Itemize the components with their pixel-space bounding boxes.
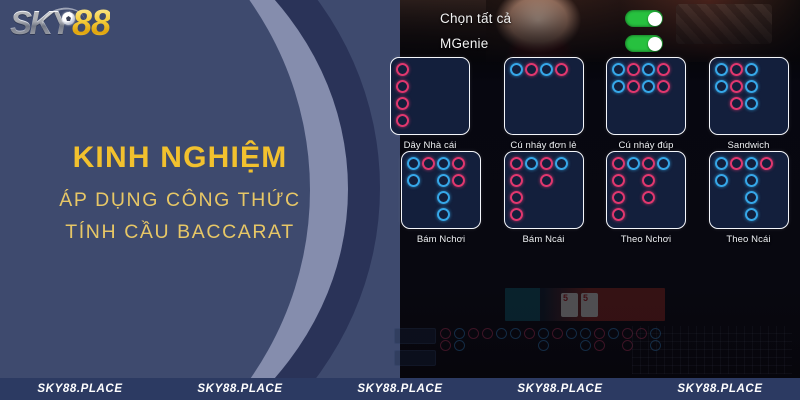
pattern-dot-row: [612, 157, 670, 172]
pattern-cell: Bám Nchơi: [390, 151, 492, 245]
player-dot-icon: [745, 191, 758, 204]
side-panel-box-1: [394, 328, 436, 344]
banker-dot-icon: [642, 157, 655, 170]
banker-dot-icon: [510, 174, 523, 187]
pattern-cell: Cú nháy đơn lẻ: [493, 57, 595, 151]
footer-watermark-bar: SKY88.PLACESKY88.PLACESKY88.PLACESKY88.P…: [0, 378, 800, 400]
banker-dot-icon: [422, 157, 435, 170]
sky88-logo[interactable]: SKY 88: [10, 6, 140, 46]
banner-headline: KINH NGHIỆM: [0, 140, 360, 176]
pattern-dot-row: [407, 208, 465, 223]
player-dot-icon: [555, 157, 568, 170]
pattern-card[interactable]: [504, 57, 584, 135]
pattern-dot-row: [396, 97, 409, 112]
banker-dot-icon: [525, 63, 538, 76]
banner-subline-1: ÁP DỤNG CÔNG THỨC: [0, 185, 360, 215]
pattern-dot-row: [510, 208, 568, 223]
banker-dot-icon: [540, 157, 553, 170]
empty-dot-slot: [407, 208, 420, 221]
player-dot-icon: [437, 174, 450, 187]
banker-dot-icon: [730, 80, 743, 93]
pattern-cell: Sandwich: [698, 57, 800, 151]
pattern-dot-row: [612, 63, 670, 78]
empty-dot-slot: [730, 208, 743, 221]
toggle-row-mgenie[interactable]: MGenie: [440, 31, 690, 56]
pattern-card[interactable]: [390, 57, 470, 135]
pattern-dot-row: [510, 63, 568, 78]
logo-text-88: 88: [72, 2, 110, 44]
player-dot-icon: [612, 63, 625, 76]
banner-subline-2: TÍNH CẦU BACCARAT: [0, 217, 360, 247]
pattern-card-label: Sandwich: [728, 140, 770, 151]
toggle-switch-select-all[interactable]: [625, 10, 663, 27]
banker-dot-icon: [396, 114, 409, 127]
player-dot-icon: [715, 157, 728, 170]
pattern-card[interactable]: [709, 57, 789, 135]
pattern-dot-row: [510, 174, 568, 189]
player-dot-icon: [437, 191, 450, 204]
toggle-knob: [648, 37, 662, 51]
table-card-1: 5: [561, 293, 578, 317]
pattern-cell: Theo Nchơi: [595, 151, 697, 245]
empty-dot-slot: [715, 191, 728, 204]
player-dot-icon: [745, 80, 758, 93]
big-road-grid: [632, 326, 792, 374]
pattern-cell: Cú nháy đúp: [595, 57, 697, 151]
pattern-dot-row: [396, 80, 409, 95]
empty-dot-slot: [715, 208, 728, 221]
banker-dot-icon: [396, 97, 409, 110]
screenshot-stage: 5 5 Chọn tất cả: [0, 0, 800, 400]
player-dot-icon: [657, 157, 670, 170]
empty-dot-slot: [627, 174, 640, 187]
banker-dot-icon: [642, 174, 655, 187]
player-dot-icon: [715, 80, 728, 93]
banker-dot-icon: [510, 157, 523, 170]
pattern-dot-row: [612, 208, 670, 223]
banker-dot-icon: [555, 63, 568, 76]
pattern-card-label: Cú nháy đơn lẻ: [510, 140, 576, 151]
pattern-dot-row: [715, 157, 773, 172]
pattern-dot-row: [715, 97, 758, 112]
banker-dot-icon: [612, 174, 625, 187]
banker-dot-icon: [657, 80, 670, 93]
banker-dot-icon: [730, 63, 743, 76]
player-dot-icon: [745, 157, 758, 170]
pattern-dot-matrix: [612, 157, 670, 223]
toggle-row-select-all[interactable]: Chọn tất cả: [440, 6, 690, 31]
banker-dot-icon: [612, 191, 625, 204]
banker-dot-icon: [612, 208, 625, 221]
banker-dot-icon: [510, 208, 523, 221]
player-dot-icon: [612, 80, 625, 93]
pattern-dot-matrix: [510, 157, 568, 223]
banker-dot-icon: [452, 157, 465, 170]
pattern-card[interactable]: [401, 151, 481, 229]
bead-plate-grid: [440, 328, 663, 351]
footer-watermark: SKY88.PLACE: [677, 383, 762, 395]
game-screenshot-panel: 5 5 Chọn tất cả: [390, 0, 800, 378]
banner-headline-block: KINH NGHIỆM ÁP DỤNG CÔNG THỨC TÍNH CẦU B…: [0, 140, 360, 247]
promo-banner: SKY 88 KINH NGHIỆM ÁP DỤNG CÔNG THỨC TÍN…: [0, 0, 400, 378]
player-dot-icon: [437, 157, 450, 170]
empty-dot-slot: [525, 174, 538, 187]
banker-dot-icon: [730, 97, 743, 110]
player-dot-icon: [642, 80, 655, 93]
player-dot-icon: [745, 63, 758, 76]
pattern-dot-row: [396, 63, 409, 78]
player-dot-icon: [627, 157, 640, 170]
pattern-dot-row: [407, 157, 465, 172]
pattern-dot-row: [510, 157, 568, 172]
pattern-cell: Theo Ncái: [698, 151, 800, 245]
banker-dot-icon: [612, 157, 625, 170]
empty-dot-slot: [407, 191, 420, 204]
footer-watermark: SKY88.PLACE: [197, 383, 282, 395]
pattern-card[interactable]: [606, 57, 686, 135]
toggle-label-select-all: Chọn tất cả: [440, 11, 625, 26]
pattern-dot-row: [715, 63, 758, 78]
pattern-dot-row: [396, 114, 409, 129]
player-dot-icon: [745, 208, 758, 221]
empty-dot-slot: [627, 191, 640, 204]
banker-dot-icon: [510, 191, 523, 204]
footer-watermark: SKY88.PLACE: [357, 383, 442, 395]
pattern-dot-matrix: [407, 157, 465, 223]
pattern-cell: Bám Ncái: [493, 151, 595, 245]
player-dot-icon: [642, 63, 655, 76]
pattern-card-label: Cú nháy đúp: [619, 140, 674, 151]
player-dot-icon: [540, 63, 553, 76]
banker-dot-icon: [627, 63, 640, 76]
toggle-switch-mgenie[interactable]: [625, 35, 663, 52]
pattern-card[interactable]: [504, 151, 584, 229]
player-dot-icon: [525, 157, 538, 170]
empty-dot-slot: [422, 174, 435, 187]
toggle-label-mgenie: MGenie: [440, 36, 625, 51]
side-panel-box-2: [394, 350, 436, 366]
empty-dot-slot: [715, 97, 728, 110]
pattern-dot-row: [612, 191, 670, 206]
current-hand-strip: 5 5: [505, 288, 665, 321]
toggle-knob: [648, 12, 662, 26]
pattern-card[interactable]: [606, 151, 686, 229]
banker-dot-icon: [540, 174, 553, 187]
pattern-dot-row: [715, 208, 773, 223]
pattern-dot-matrix: [396, 63, 409, 129]
footer-watermark: SKY88.PLACE: [517, 383, 602, 395]
table-card-2: 5: [581, 293, 598, 317]
player-dot-icon: [407, 157, 420, 170]
pattern-card-label: Bám Nchơi: [417, 234, 465, 245]
empty-dot-slot: [730, 191, 743, 204]
player-dot-icon: [745, 174, 758, 187]
banker-dot-icon: [452, 174, 465, 187]
pattern-dot-row: [612, 80, 670, 95]
footer-watermark: SKY88.PLACE: [37, 383, 122, 395]
banker-dot-icon: [760, 157, 773, 170]
pattern-dot-row: [715, 191, 773, 206]
baccarat-roadmap-background: 5 5: [390, 288, 800, 378]
filter-toggle-list: Chọn tất cả MGenie: [440, 6, 690, 56]
banker-dot-icon: [642, 191, 655, 204]
pattern-card-label: Theo Ncái: [726, 234, 770, 245]
pattern-card-label: Dây Nhà cái: [404, 140, 457, 151]
pattern-dot-matrix: [612, 63, 670, 95]
banker-dot-icon: [657, 63, 670, 76]
banker-dot-icon: [627, 80, 640, 93]
pattern-card-label: Theo Nchơi: [621, 234, 672, 245]
pattern-dot-row: [407, 191, 465, 206]
player-dot-icon: [715, 174, 728, 187]
pattern-dot-row: [612, 174, 670, 189]
empty-dot-slot: [730, 174, 743, 187]
pattern-dot-row: [715, 80, 758, 95]
pattern-dot-matrix: [510, 63, 568, 78]
empty-dot-slot: [422, 208, 435, 221]
pattern-cell: Dây Nhà cái: [390, 57, 492, 151]
pattern-card-grid: Dây Nhà cáiCú nháy đơn lẻCú nháy đúpSand…: [390, 57, 800, 245]
player-dot-icon: [745, 97, 758, 110]
player-dot-icon: [715, 63, 728, 76]
banker-dot-icon: [396, 80, 409, 93]
banker-dot-icon: [730, 157, 743, 170]
pattern-dot-row: [715, 174, 773, 189]
empty-dot-slot: [422, 191, 435, 204]
pattern-dot-matrix: [715, 63, 758, 112]
pattern-dot-matrix: [715, 157, 773, 223]
pattern-dot-row: [510, 191, 568, 206]
player-dot-icon: [407, 174, 420, 187]
banker-dot-icon: [396, 63, 409, 76]
player-dot-icon: [510, 63, 523, 76]
player-dot-icon: [437, 208, 450, 221]
pattern-card-label: Bám Ncái: [523, 234, 565, 245]
pattern-card[interactable]: [709, 151, 789, 229]
pattern-dot-row: [407, 174, 465, 189]
